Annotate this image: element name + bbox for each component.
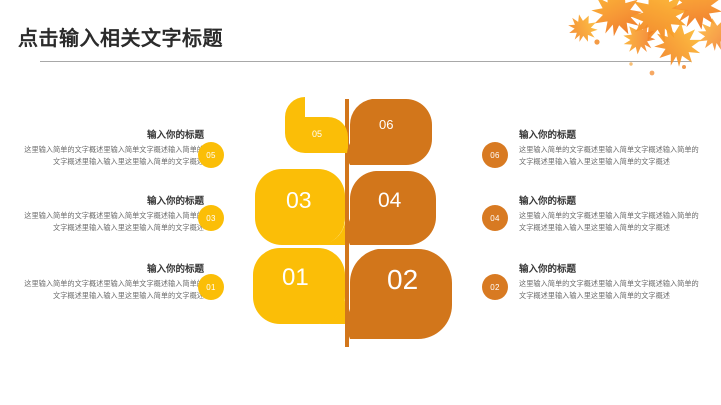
maple-leaf-icon-5 (617, 16, 662, 61)
leaf-02[interactable] (350, 249, 452, 339)
leaf-tree-svg (250, 85, 480, 355)
falling-petal-dots (521, 0, 721, 80)
right-text-block-04: 输入你的标题 这里输入简单的文字概述里输入简单文字概述输入简单的文字概述里输入输… (519, 196, 705, 233)
header-divider (40, 61, 691, 62)
leaf-06[interactable] (350, 99, 432, 165)
left-badge-01[interactable]: 01 (198, 274, 224, 300)
left-item-desc: 这里输入简单的文字概述里输入简单文字概述输入简单的文字概述里输入输入里这里输入简… (20, 278, 204, 300)
slide-canvas: 点击输入相关文字标题 (0, 0, 721, 405)
left-item-title: 输入你的标题 (20, 196, 204, 207)
left-text-block-05: 输入你的标题 这里输入简单的文字概述里输入简单文字概述输入简单的文字概述里输入输… (20, 130, 204, 167)
right-item-desc: 这里输入简单的文字概述里输入简单文字概述输入简单的文字概述里输入输入里这里输入简… (519, 278, 705, 300)
maple-leaf-icon-1 (586, 0, 648, 43)
right-item-desc: 这里输入简单的文字概述里输入简单文字概述输入简单的文字概述里输入输入里这里输入简… (519, 144, 705, 166)
left-item-desc: 这里输入简单的文字概述里输入简单文字概述输入简单的文字概述里输入输入里这里输入简… (20, 210, 204, 232)
left-badge-05[interactable]: 05 (198, 142, 224, 168)
maple-leaf-icon-7 (695, 15, 721, 53)
right-badge-04[interactable]: 04 (482, 205, 508, 231)
maple-leaf-icon-6 (564, 9, 602, 46)
maple-leaf-icon-3 (662, 0, 721, 39)
left-text-block-01: 输入你的标题 这里输入简单的文字概述里输入简单文字概述输入简单的文字概述里输入输… (20, 264, 204, 301)
leaf-04[interactable] (350, 171, 436, 245)
left-badge-03[interactable]: 03 (198, 205, 224, 231)
left-text-block-03: 输入你的标题 这里输入简单的文字概述里输入简单文字概述输入简单的文字概述里输入输… (20, 196, 204, 233)
left-item-title: 输入你的标题 (20, 130, 204, 141)
right-item-desc: 这里输入简单的文字概述里输入简单文字概述输入简单的文字概述里输入输入里这里输入简… (519, 210, 705, 232)
right-badge-06[interactable]: 06 (482, 142, 508, 168)
maple-leaf-decoration (531, 0, 721, 78)
page-title: 点击输入相关文字标题 (18, 22, 223, 51)
maple-leaf-icon-2 (622, 0, 697, 51)
right-item-title: 输入你的标题 (519, 130, 705, 141)
leaf-tree-diagram: 05 06 03 04 01 02 (250, 85, 480, 355)
left-item-desc: 这里输入简单的文字概述里输入简单文字概述输入简单的文字概述里输入输入里这里输入简… (20, 144, 204, 166)
leaf-01[interactable] (253, 248, 345, 324)
right-item-title: 输入你的标题 (519, 196, 705, 207)
left-item-title: 输入你的标题 (20, 264, 204, 275)
right-badge-02[interactable]: 02 (482, 274, 508, 300)
leaf-05[interactable] (285, 97, 348, 153)
right-item-title: 输入你的标题 (519, 264, 705, 275)
right-text-block-06: 输入你的标题 这里输入简单的文字概述里输入简单文字概述输入简单的文字概述里输入输… (519, 130, 705, 167)
leaf-03[interactable] (255, 169, 345, 245)
right-text-block-02: 输入你的标题 这里输入简单的文字概述里输入简单文字概述输入简单的文字概述里输入输… (519, 264, 705, 301)
